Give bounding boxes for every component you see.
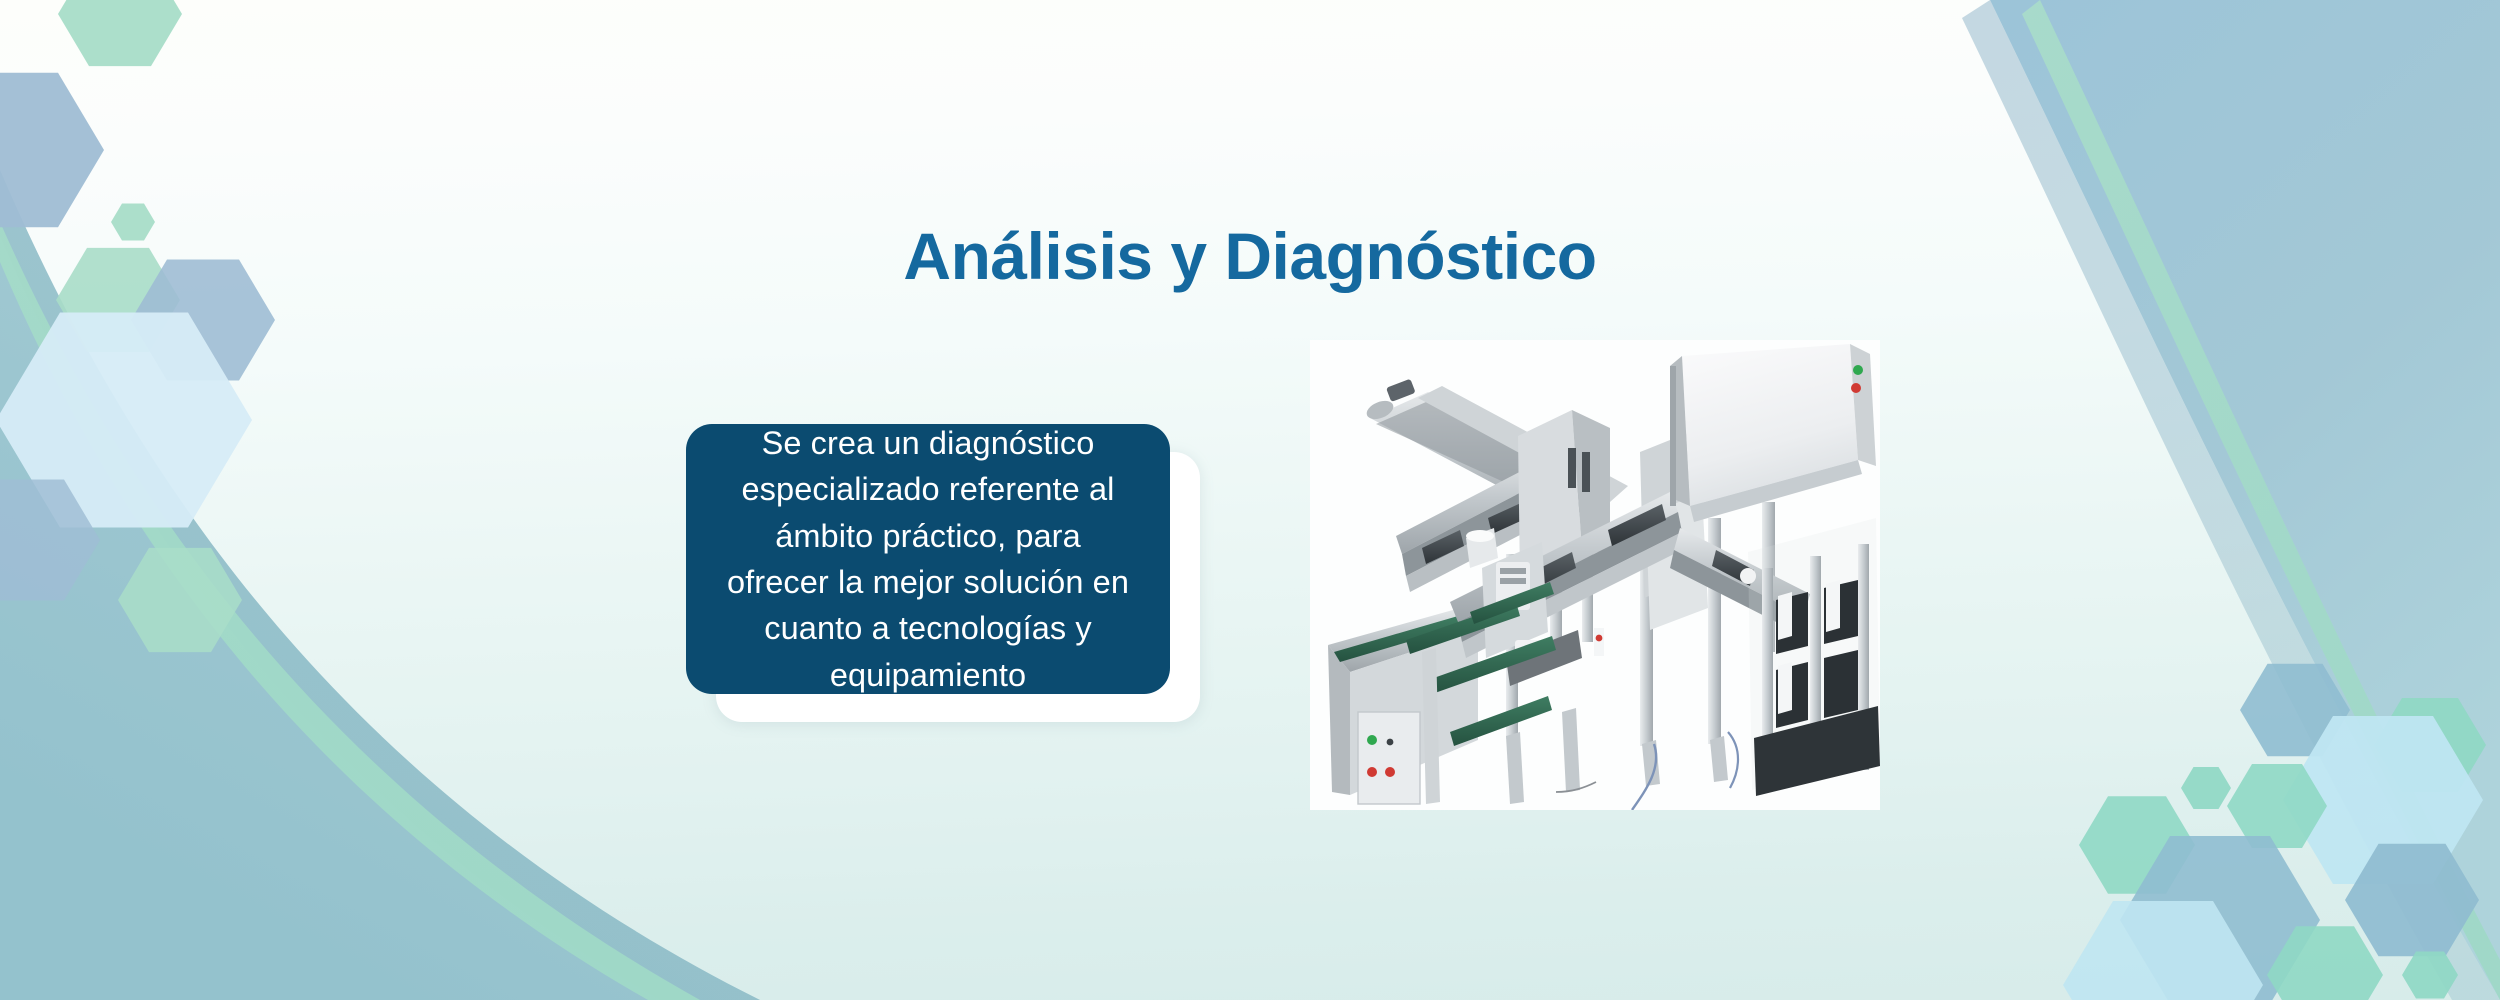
content-row: Se crea un diagnóstico especializado ref… xyxy=(0,330,2500,810)
hexagon-shape xyxy=(2063,901,2263,1000)
hexagon-shape xyxy=(2120,836,2320,1000)
hexagon-shape xyxy=(2402,951,2458,998)
machine-right-stacker xyxy=(1740,518,1880,796)
hexagon-shape xyxy=(58,0,182,66)
hexagon-shape xyxy=(2267,926,2383,1000)
slide-canvas: Análisis y Diagnóstico Se crea un diagnó… xyxy=(0,0,2500,1000)
description-card-wrapper: Se crea un diagnóstico especializado ref… xyxy=(686,424,1170,694)
hexagon-shape xyxy=(0,73,104,228)
machinery-illustration xyxy=(1310,340,1880,810)
description-card: Se crea un diagnóstico especializado ref… xyxy=(686,424,1170,694)
description-text: Se crea un diagnóstico especializado ref… xyxy=(720,420,1136,699)
hexagon-shape xyxy=(2079,796,2195,893)
hexagon-shape xyxy=(2345,844,2479,957)
page-title: Análisis y Diagnóstico xyxy=(0,222,2500,291)
machinery-photo xyxy=(1310,340,1880,810)
